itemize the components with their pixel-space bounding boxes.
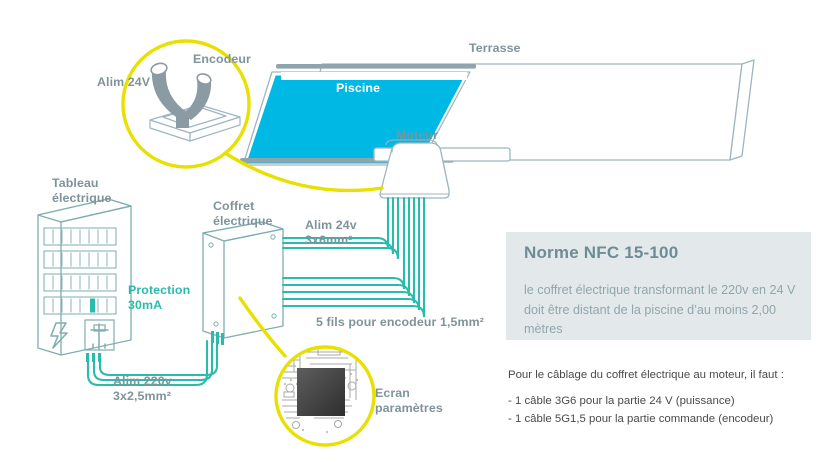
label-alim-220v: Alim 220v 3x2,5mm² xyxy=(113,374,172,403)
cable-encodeur-5-fils xyxy=(283,198,424,317)
label-coffret-electrique: Coffret électrique xyxy=(213,199,273,228)
label-protection-30ma: Protection 30mA xyxy=(128,283,190,312)
parameter-screen xyxy=(297,368,345,416)
label-tableau-line1: Tableau xyxy=(52,176,112,191)
label-5-fils-encodeur: 5 fils pour encodeur 1,5mm² xyxy=(316,315,484,330)
label-alim24v-line2: 3x6mm² xyxy=(305,233,357,248)
label-alim220v-line2: 3x2,5mm² xyxy=(113,389,172,404)
protected-breaker xyxy=(90,299,95,313)
label-protection-line2: 30mA xyxy=(128,298,190,313)
norme-body: le coffret électrique transformant le 22… xyxy=(524,281,802,340)
label-ecran-line2: paramètres xyxy=(375,401,443,416)
label-alim-24v-cable: Alim 24v 3x6mm² xyxy=(305,218,357,247)
label-protection-line1: Protection xyxy=(128,283,190,298)
caption-item-1: - 1 câble 5G1,5 pour la partie commande … xyxy=(508,410,825,428)
label-ecran-parametres: Ecran paramètres xyxy=(375,386,443,415)
label-alim220v-line1: Alim 220v xyxy=(113,374,172,389)
tableau-electrique xyxy=(38,199,131,362)
label-encodeur: Encodeur xyxy=(193,52,251,67)
diagram-canvas: Alim 24V Encodeur Terrasse Piscine Moteu… xyxy=(0,0,825,462)
label-alim-24v-callout: Alim 24V xyxy=(97,75,150,90)
label-tableau-line2: électrique xyxy=(52,191,112,206)
coffret-electrique xyxy=(203,222,283,345)
label-coffret-line2: électrique xyxy=(213,214,273,229)
label-coffret-line1: Coffret xyxy=(213,199,273,214)
label-piscine: Piscine xyxy=(336,81,380,96)
label-terrasse: Terrasse xyxy=(469,41,521,56)
label-tableau-electrique: Tableau électrique xyxy=(52,176,112,205)
motor xyxy=(374,140,510,198)
caption-item-0: - 1 câble 3G6 pour la partie 24 V (puiss… xyxy=(508,392,825,410)
label-alim24v-line1: Alim 24v xyxy=(305,218,357,233)
norme-title: Norme NFC 15-100 xyxy=(524,243,678,263)
caption-intro: Pour le câblage du coffret électrique au… xyxy=(508,367,823,384)
label-ecran-line1: Ecran xyxy=(375,386,443,401)
panel-outlet-pins xyxy=(86,353,101,362)
label-moteur: Moteur xyxy=(396,128,438,143)
caption-list: - 1 câble 3G6 pour la partie 24 V (puiss… xyxy=(508,392,825,429)
